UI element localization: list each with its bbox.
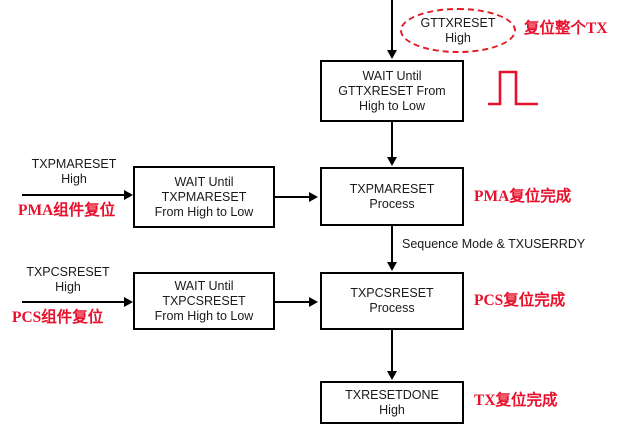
box-wait-txpmareset-line3: From High to Low [155,205,254,220]
box-wait-txpcsreset: WAIT Until TXPCSRESET From High to Low [133,272,275,330]
box-txpcsreset-process-line1: TXPCSRESET [350,286,433,301]
connector-entry-to-wait-gttxreset [391,0,393,52]
box-wait-gttxreset: WAIT Until GTTXRESET From High to Low [320,60,464,122]
diagram-canvas: GTTXRESET High 复位整个TX WAIT Until GTTXRES… [0,0,640,431]
connector-wait-gttxreset-to-pma [391,122,393,158]
arrowhead-entry-to-wait-gttxreset [387,50,397,59]
box-wait-txpcsreset-line3: From High to Low [155,309,254,324]
input-label-txpcsreset-level: High [12,280,124,295]
box-wait-txpmareset-line1: WAIT Until [174,175,233,190]
trigger-bubble-line1: GTTXRESET [420,16,495,31]
annotation-reset-whole-tx: 复位整个TX [524,20,608,37]
box-txresetdone-line2: High [379,403,405,418]
annotation-tx-reset-done: TX复位完成 [474,392,558,409]
input-label-txpcsreset-name: TXPCSRESET [12,265,124,280]
connector-wait-pcs-to-pcs-process [275,301,311,303]
arrowhead-pcs-to-txresetdone [387,371,397,380]
trigger-bubble-gttxreset: GTTXRESET High [400,8,516,53]
box-wait-txpmareset: WAIT Until TXPMARESET From High to Low [133,166,275,228]
annotation-pcs-reset-done: PCS复位完成 [474,292,565,309]
edge-label-sequence-mode-txuserrdy: Sequence Mode & TXUSERRDY [402,237,585,252]
box-txpcsreset-process: TXPCSRESET Process [320,272,464,330]
arrowhead-txpcsreset-input [124,297,133,307]
box-txpcsreset-process-line2: Process [369,301,414,316]
connector-txpcsreset-input [22,301,126,303]
connector-pma-to-pcs [391,226,393,263]
trigger-bubble-line2: High [445,31,471,46]
box-txresetdone-line1: TXRESETDONE [345,388,439,403]
box-wait-txpcsreset-line1: WAIT Until [174,279,233,294]
box-wait-txpcsreset-line2: TXPCSRESET [162,294,245,309]
connector-txpmareset-input [22,194,126,196]
box-wait-txpmareset-line2: TXPMARESET [162,190,247,205]
box-txpmareset-process: TXPMARESET Process [320,167,464,226]
connector-wait-pma-to-pma-process [275,196,311,198]
annotation-pma-reset-done: PMA复位完成 [474,188,571,205]
box-wait-gttxreset-line2: GTTXRESET From [338,84,445,99]
box-txresetdone: TXRESETDONE High [320,381,464,424]
input-label-txpmareset-level: High [18,172,130,187]
box-wait-gttxreset-line3: High to Low [359,99,425,114]
arrowhead-wait-pcs-to-pcs-process [309,297,318,307]
box-txpmareset-process-line1: TXPMARESET [350,182,435,197]
annotation-pcs-component-reset: PCS组件复位 [12,309,103,326]
box-wait-gttxreset-line1: WAIT Until [362,69,421,84]
arrowhead-txpmareset-input [124,190,133,200]
connector-pcs-to-txresetdone [391,330,393,373]
arrowhead-wait-pma-to-pma-process [309,192,318,202]
box-txpmareset-process-line2: Process [369,197,414,212]
input-label-txpmareset-name: TXPMARESET [18,157,130,172]
annotation-pma-component-reset: PMA组件复位 [18,202,115,219]
arrowhead-wait-gttxreset-to-pma [387,157,397,166]
arrowhead-pma-to-pcs [387,262,397,271]
reset-pulse-waveform-icon [486,66,542,110]
